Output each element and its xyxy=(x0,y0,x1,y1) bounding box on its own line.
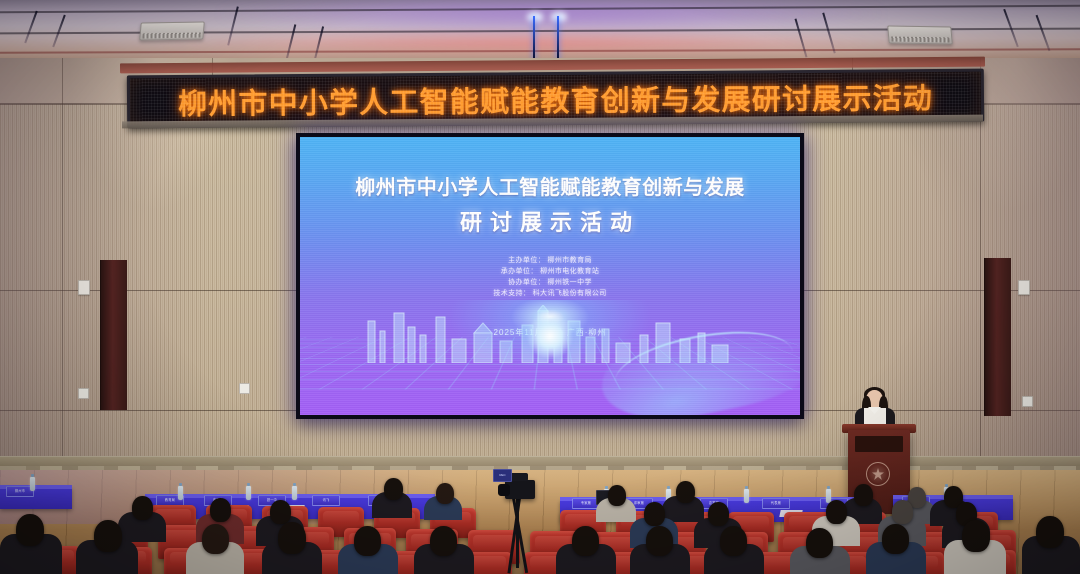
attendee-head xyxy=(436,483,454,504)
wall-socket xyxy=(78,388,89,399)
wall-socket xyxy=(1022,396,1033,407)
tripod-leg xyxy=(516,498,519,568)
ceiling-rigging xyxy=(1036,15,1051,51)
camera-handle xyxy=(510,473,528,481)
attendee-head xyxy=(806,528,833,558)
attendee-head xyxy=(270,500,291,524)
attendee-head xyxy=(1036,516,1064,548)
attendee-head xyxy=(572,526,599,556)
water-bottle xyxy=(744,489,749,503)
attendee-head xyxy=(720,526,747,556)
attendee-head xyxy=(202,524,229,554)
attendee-head xyxy=(826,500,847,524)
attendee-head xyxy=(278,522,306,554)
attendee-head xyxy=(962,520,990,552)
attendee-head xyxy=(94,520,122,552)
attendee-head xyxy=(646,526,673,556)
attendee-head xyxy=(676,481,695,503)
camera-monitor: REC xyxy=(493,469,512,482)
attendee-head xyxy=(708,502,729,526)
water-bottle xyxy=(246,486,251,500)
attendee-head xyxy=(892,500,913,524)
ceiling-light xyxy=(551,12,567,22)
attendee-head xyxy=(132,496,153,520)
camera-lens xyxy=(498,484,510,496)
side-door-left[interactable] xyxy=(100,260,127,410)
ceiling-rigging xyxy=(52,15,66,48)
ceiling-rigging xyxy=(24,11,38,44)
school-crest-icon xyxy=(866,462,890,486)
led-screen[interactable]: 柳州市中小学人工智能赋能教育创新与发展 研讨展示活动 主办单位： 柳州市教育局 … xyxy=(300,137,800,415)
hvac-vent xyxy=(887,25,953,44)
attendee-head xyxy=(354,526,381,556)
name-card-label: 代表席 xyxy=(763,499,789,508)
auditorium-scene: 柳州市中小学人工智能赋能教育创新与发展研讨展示活动 柳州市中小学人工智能赋能教育… xyxy=(0,0,1080,574)
name-card: 代表席 xyxy=(762,498,790,509)
camera-monitor-label: REC xyxy=(494,470,511,481)
led-screen-bezel: 柳州市中小学人工智能赋能教育创新与发展 研讨展示活动 主办单位： 柳州市教育局 … xyxy=(296,133,804,419)
ceiling-light xyxy=(527,12,543,22)
name-card: 讯飞 xyxy=(312,495,340,506)
wall-socket xyxy=(239,383,250,394)
water-bottle xyxy=(178,486,183,500)
attendee-head xyxy=(608,485,626,506)
light-beam xyxy=(533,16,535,62)
light-switch[interactable] xyxy=(78,280,90,295)
attendee-head xyxy=(210,498,231,522)
attendee-head xyxy=(854,484,873,506)
light-switch[interactable] xyxy=(1018,280,1030,295)
attendee-head xyxy=(384,478,403,500)
attendee-head xyxy=(882,524,909,554)
water-bottle xyxy=(292,486,297,500)
side-door-right[interactable] xyxy=(984,258,1011,416)
led-scanline-overlay xyxy=(300,137,800,415)
attendee-head xyxy=(644,502,665,526)
podium-front-panel xyxy=(855,436,903,452)
ceiling xyxy=(0,0,1080,62)
attendee-head xyxy=(16,514,44,546)
hvac-vent xyxy=(139,21,205,40)
water-bottle xyxy=(30,477,35,491)
name-card-label: 讯飞 xyxy=(313,496,339,505)
attendee-head xyxy=(430,526,457,556)
light-beam xyxy=(557,16,559,62)
